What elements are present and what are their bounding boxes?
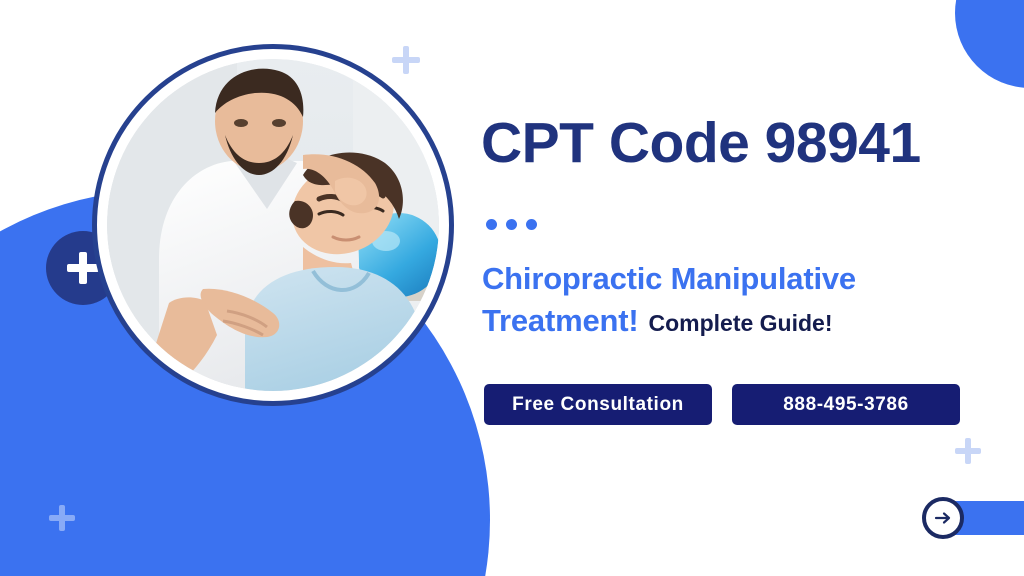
page-title: CPT Code 98941 xyxy=(481,110,921,176)
plus-icon-right xyxy=(955,438,981,464)
photo-white-ring xyxy=(107,59,439,391)
plus-icon-bottom-left xyxy=(49,505,75,531)
banner-canvas: CPT Code 98941 Chiropractic Manipulative… xyxy=(0,0,1024,576)
arrow-right-icon xyxy=(933,508,953,528)
photo-circle-frame xyxy=(92,44,454,406)
dot-separator xyxy=(486,219,537,230)
decorative-circle-top-right xyxy=(955,0,1024,88)
subtitle-accent: Complete Guide! xyxy=(648,310,832,336)
photo-image xyxy=(107,59,439,391)
phone-number-button[interactable]: 888-495-3786 xyxy=(732,384,960,425)
next-arrow-button[interactable] xyxy=(922,497,964,539)
subtitle: Chiropractic Manipulative Treatment!Comp… xyxy=(482,258,982,344)
dot-1 xyxy=(486,219,497,230)
dot-2 xyxy=(506,219,517,230)
free-consultation-button[interactable]: Free Consultation xyxy=(484,384,712,425)
cta-button-row: Free Consultation 888-495-3786 xyxy=(484,384,960,425)
dot-3 xyxy=(526,219,537,230)
plus-icon-top xyxy=(392,46,420,74)
